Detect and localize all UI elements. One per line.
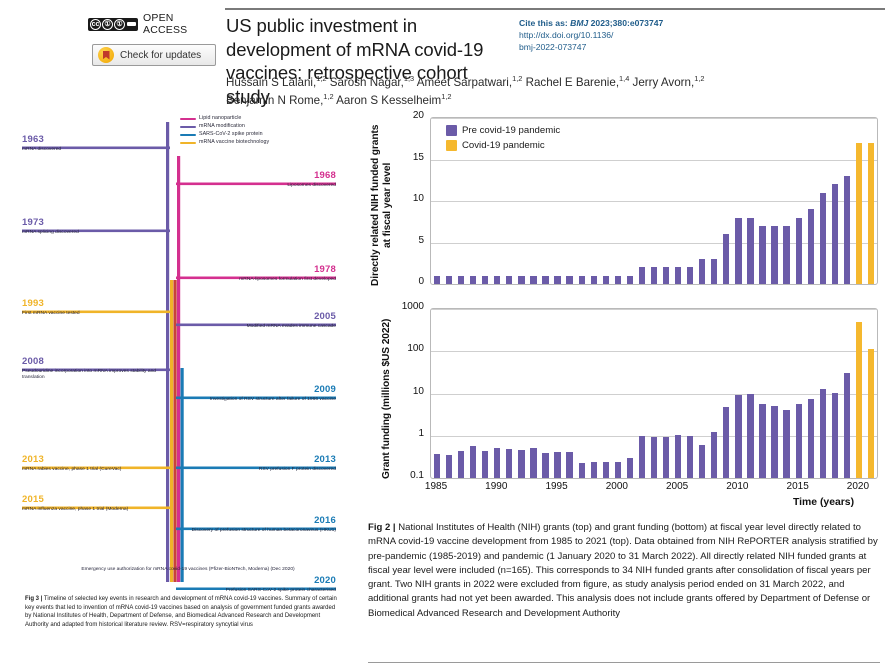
gridline [431,160,877,161]
legend-swatch-icon [180,134,196,136]
chart-bar [687,267,693,284]
y-tick-label: 10 [390,386,424,397]
footer-divider [368,662,880,663]
chart-bar [530,276,536,284]
chart-bar [458,451,464,478]
chart-bar [856,143,862,284]
figure-3-timeline: Lipid nanoparticlemRNA modificationSARS-… [20,112,350,602]
timeline-event-description: RSV prefusion F protein discovered [188,467,336,473]
chart-bar [591,462,597,478]
timeline-event-year: 2008 [22,356,164,367]
timeline-event-1978-3: 1978mRNA-liposomes formulation first dev… [188,264,336,283]
chart-bar [723,407,729,478]
open-access-block: cc①① OPEN ACCESS [88,12,218,36]
x-tick-label: 2005 [657,481,697,492]
chart-bar [868,143,874,284]
chart-bar [771,226,777,284]
chart-bar [434,454,440,478]
timeline-event-description: First mRNA vaccine tested [22,311,164,317]
x-tick-label: 2015 [778,481,818,492]
timeline-event-description: mRNA rabies vaccine, phase 1 trial (Cure… [22,467,164,473]
chart-bar [482,451,488,478]
x-tick-label: 1990 [476,481,516,492]
timeline-event-year: 2015 [22,494,164,505]
timeline-event-year: 1968 [188,170,336,181]
timeline-legend-item-3: mRNA vaccine biotechnology [180,139,269,147]
citation-block: Cite this as: BMJ 2023;380:e073747 http:… [519,17,749,54]
timeline-bottom-note: Emergency use authorization for mRNA cov… [80,567,296,573]
x-tick-label: 2010 [717,481,757,492]
legend-swatch-icon [180,142,196,144]
chart-bar [470,446,476,478]
chart-bar [542,453,548,478]
grant-funding-plot-area [430,308,878,479]
figure-3-caption-label: Fig 3 | [25,596,42,602]
chart-bar [759,404,765,478]
chart-bar [627,276,633,284]
chart-bar [675,435,681,478]
timeline-event-description: Prefusion SARS-CoV-2 spike protein chara… [188,588,336,594]
chart-bar [639,436,645,478]
figure-2-caption-label: Fig 2 | [368,522,396,533]
chart-bar [796,404,802,478]
legend-swatch-icon [446,125,457,136]
gridline [431,309,877,310]
chart-bar [458,276,464,284]
chart-legend-label: Covid-19 pandemic [462,139,545,153]
x-tick-label: 1985 [416,481,456,492]
chart-bar [603,276,609,284]
chart-bar [844,373,850,478]
timeline-event-description: Modified mRNA evades immune cascade [188,324,336,330]
timeline-event-year: 2013 [22,454,164,465]
timeline-event-2013-9: 2013RSV prefusion F protein discovered [188,454,336,473]
chart-bar [566,276,572,284]
cite-rest: 2023;380:e073747 [591,18,664,28]
chart-bar [615,462,621,478]
timeline-event-2008-6: 2008Pseudouridine incorporation into mRN… [22,356,164,381]
timeline-event-year: 2020 [188,575,336,586]
chart-bar [470,276,476,284]
legend-swatch-icon [446,140,457,151]
timeline-event-description: Investigation of RSV structure after fai… [188,397,336,403]
chart-bar [783,410,789,478]
y-tick-label: 1000 [390,301,424,312]
gridline [431,394,877,395]
x-tick-label: 1995 [537,481,577,492]
timeline-event-2009-7: 2009Investigation of RSV structure after… [188,384,336,403]
timeline-event-description: Liposomes discovered [188,183,336,189]
doi-line-1[interactable]: http://dx.doi.org/10.1136/ [519,30,613,40]
timeline-event-year: 1978 [188,264,336,275]
chart-bar [856,322,862,478]
crossmark-icon [98,47,114,63]
chart-bar [747,218,753,284]
nih-grants-legend: Pre covid-19 pandemicCovid-19 pandemic [446,124,560,153]
timeline-event-description: Discovery of prefusion structure of huma… [188,528,336,534]
timeline-event-2016-11: 2016Discovery of prefusion structure of … [188,515,336,534]
y-tick-label: 5 [390,235,424,246]
chart-bar [615,276,621,284]
chart-bar [566,452,572,478]
timeline-event-2015-10: 2015mRNA influenza vaccine, phase 1 tria… [22,494,164,513]
chart-bar [735,218,741,284]
timeline-event-2005-5: 2005Modified mRNA evades immune cascade [188,311,336,330]
chart-bar [506,449,512,478]
timeline-event-2020-12: 2020Prefusion SARS-CoV-2 spike protein c… [188,575,336,594]
grant-funding-x-axis-label: Time (years) [793,497,854,508]
y-tick-label: 0.1 [390,470,424,481]
x-tick-label: 2020 [838,481,878,492]
cite-prefix: Cite this as: [519,18,568,28]
page-root: cc①① OPEN ACCESS Check for updates US pu… [0,0,896,670]
chart-bar [711,259,717,284]
chart-bar [518,276,524,284]
timeline-event-1993-4: 1993First mRNA vaccine tested [22,298,164,317]
timeline-event-2013-8: 2013mRNA rabies vaccine, phase 1 trial (… [22,454,164,473]
timeline-event-year: 1973 [22,217,164,228]
gridline [431,201,877,202]
chart-bar [554,276,560,284]
chart-bar [494,448,500,478]
y-tick-label: 10 [390,193,424,204]
chart-legend-item-1: Covid-19 pandemic [446,139,560,153]
chart-bar [663,267,669,284]
chart-bar [482,276,488,284]
chart-bar [783,226,789,284]
header-divider [225,8,885,10]
chart-bar [603,462,609,478]
chart-bar [651,267,657,284]
chart-bar [434,276,440,284]
chart-bar [820,193,826,284]
chart-bar [639,267,645,284]
y-tick-label: 0 [390,276,424,287]
chart-bar [542,276,548,284]
timeline-event-description: mRNA-liposomes formulation first develop… [188,277,336,283]
timeline-event-1968-1: 1968Liposomes discovered [188,170,336,189]
timeline-event-year: 2005 [188,311,336,322]
chart-bar [687,436,693,478]
x-tick-label: 2000 [597,481,637,492]
timeline-event-description: mRNA splicing discovered [22,230,164,236]
figure-2-caption: Fig 2 | National Institutes of Health (N… [368,521,880,621]
chart-bar [518,450,524,478]
timeline-event-description: Pseudouridine incorporation into mRNA im… [22,369,164,382]
figure-3-caption-text: Timeline of selected key events in resea… [25,596,337,628]
chart-bar [832,393,838,478]
timeline-event-year: 2009 [188,384,336,395]
legend-swatch-icon [180,126,196,128]
chart-bar [808,399,814,478]
chart-bar [699,445,705,478]
chart-bar [868,349,874,478]
chart-bar [627,458,633,478]
timeline-event-description: mRNA discovered [22,147,164,153]
doi-line-2[interactable]: bmj-2022-073747 [519,42,586,52]
y-tick-label: 20 [390,110,424,121]
chart-bar [446,455,452,479]
creative-commons-icon: cc①① [88,18,138,31]
check-for-updates-button[interactable]: Check for updates [92,44,216,66]
timeline-event-1973-2: 1973mRNA splicing discovered [22,217,164,236]
chart-bar [579,463,585,478]
check-for-updates-label: Check for updates [120,50,201,61]
chart-bar [808,209,814,284]
chart-bar [494,276,500,284]
timeline-event-description: mRNA influenza vaccine, phase 1 trial (M… [22,507,164,513]
timeline-event-year: 2013 [188,454,336,465]
author-list: Hussain S Lalani,1,2 Sarosh Nagar,1,3 Am… [226,73,746,110]
timeline-event-year: 1963 [22,134,164,145]
y-tick-label: 15 [390,152,424,163]
chart-bar [699,259,705,284]
y-tick-label: 100 [390,343,424,354]
chart-bar [747,394,753,478]
chart-bar [663,437,669,478]
grant-funding-y-axis-label: Grant funding (millions $US 2022) [381,308,397,490]
timeline-legend: Lipid nanoparticlemRNA modificationSARS-… [180,115,269,147]
gridline [431,351,877,352]
timeline-event-1963-0: 1963mRNA discovered [22,134,164,153]
y-tick-label: 1 [390,428,424,439]
chart-bar [759,226,765,284]
chart-bar [832,184,838,284]
open-access-label: OPEN ACCESS [143,12,218,36]
chart-legend-item-0: Pre covid-19 pandemic [446,124,560,138]
chart-bar [844,176,850,284]
chart-bar [591,276,597,284]
figure-3-caption: Fig 3 | Timeline of selected key events … [25,595,343,629]
chart-bar [711,432,717,478]
chart-bar [675,267,681,284]
chart-bar [579,276,585,284]
chart-bar [820,389,826,478]
timeline-legend-label: mRNA vaccine biotechnology [199,138,269,147]
chart-bar [446,276,452,284]
chart-bar [771,406,777,479]
chart-bar [554,452,560,478]
legend-swatch-icon [180,118,196,120]
timeline-event-year: 1993 [22,298,164,309]
chart-bar [530,448,536,478]
cite-journal: BMJ [570,18,588,28]
chart-bar [796,218,802,284]
chart-bar [723,234,729,284]
figure-2-caption-text: National Institutes of Health (NIH) gran… [368,522,878,619]
timeline-event-year: 2016 [188,515,336,526]
chart-bar [735,395,741,478]
figure-2-charts: Directly related NIH funded grants at fi… [368,112,888,512]
chart-legend-label: Pre covid-19 pandemic [462,124,560,138]
chart-bar [506,276,512,284]
chart-bar [651,437,657,478]
nih-grants-y-axis-label: Directly related NIH funded grants at fi… [370,120,396,290]
gridline [431,118,877,119]
